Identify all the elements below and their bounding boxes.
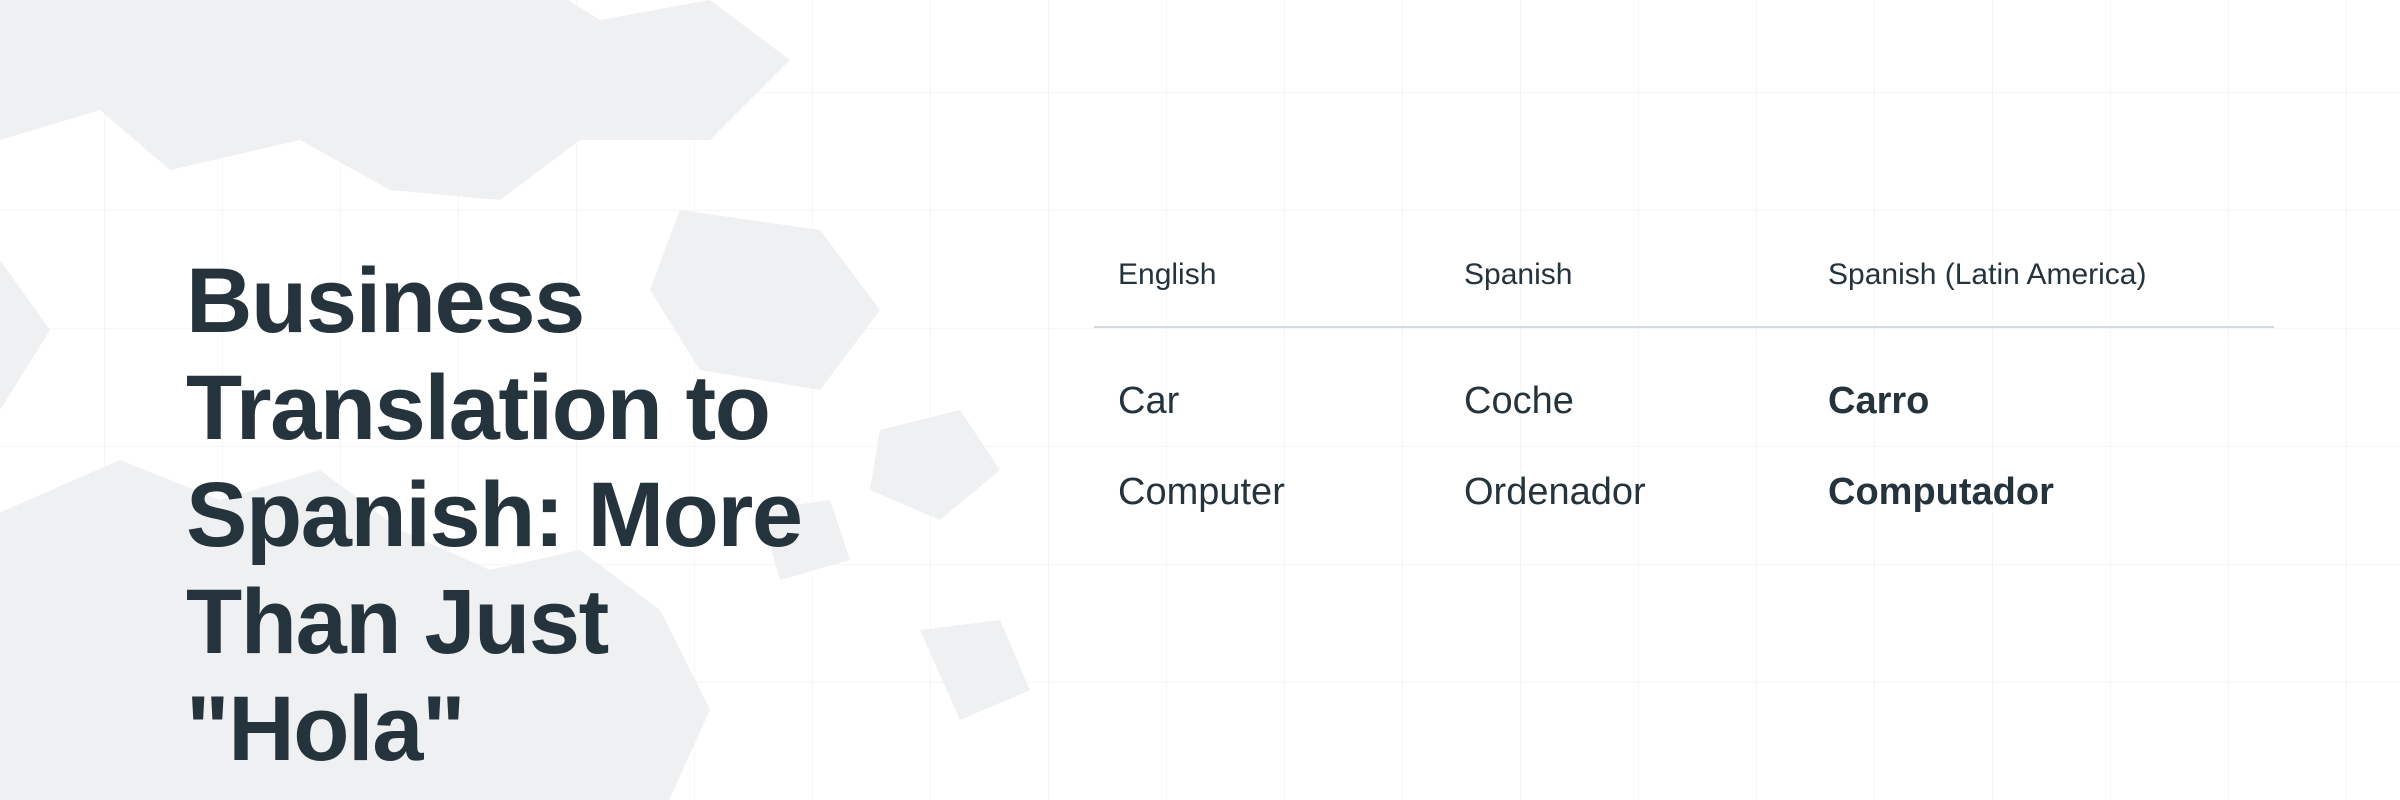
table-header-row: English Spanish Spanish (Latin America) bbox=[1094, 258, 2274, 327]
cell-spanish-latin-america: Carro bbox=[1804, 327, 2274, 447]
table-row: Computer Ordenador Computador bbox=[1094, 447, 2274, 538]
cell-spanish: Ordenador bbox=[1440, 447, 1804, 538]
column-header-english: English bbox=[1094, 258, 1440, 327]
cell-spanish: Coche bbox=[1440, 327, 1804, 447]
column-header-spanish: Spanish bbox=[1440, 258, 1804, 327]
translation-comparison-table: English Spanish Spanish (Latin America) … bbox=[1094, 258, 2274, 538]
cell-spanish-latin-america: Computador bbox=[1804, 447, 2274, 538]
column-header-spanish-latin-america: Spanish (Latin America) bbox=[1804, 258, 2274, 327]
cell-english: Car bbox=[1094, 327, 1440, 447]
slide-canvas: Business Translation to Spanish: More Th… bbox=[0, 0, 2400, 800]
page-title: Business Translation to Spanish: More Th… bbox=[186, 248, 826, 783]
cell-english: Computer bbox=[1094, 447, 1440, 538]
table-row: Car Coche Carro bbox=[1094, 327, 2274, 447]
